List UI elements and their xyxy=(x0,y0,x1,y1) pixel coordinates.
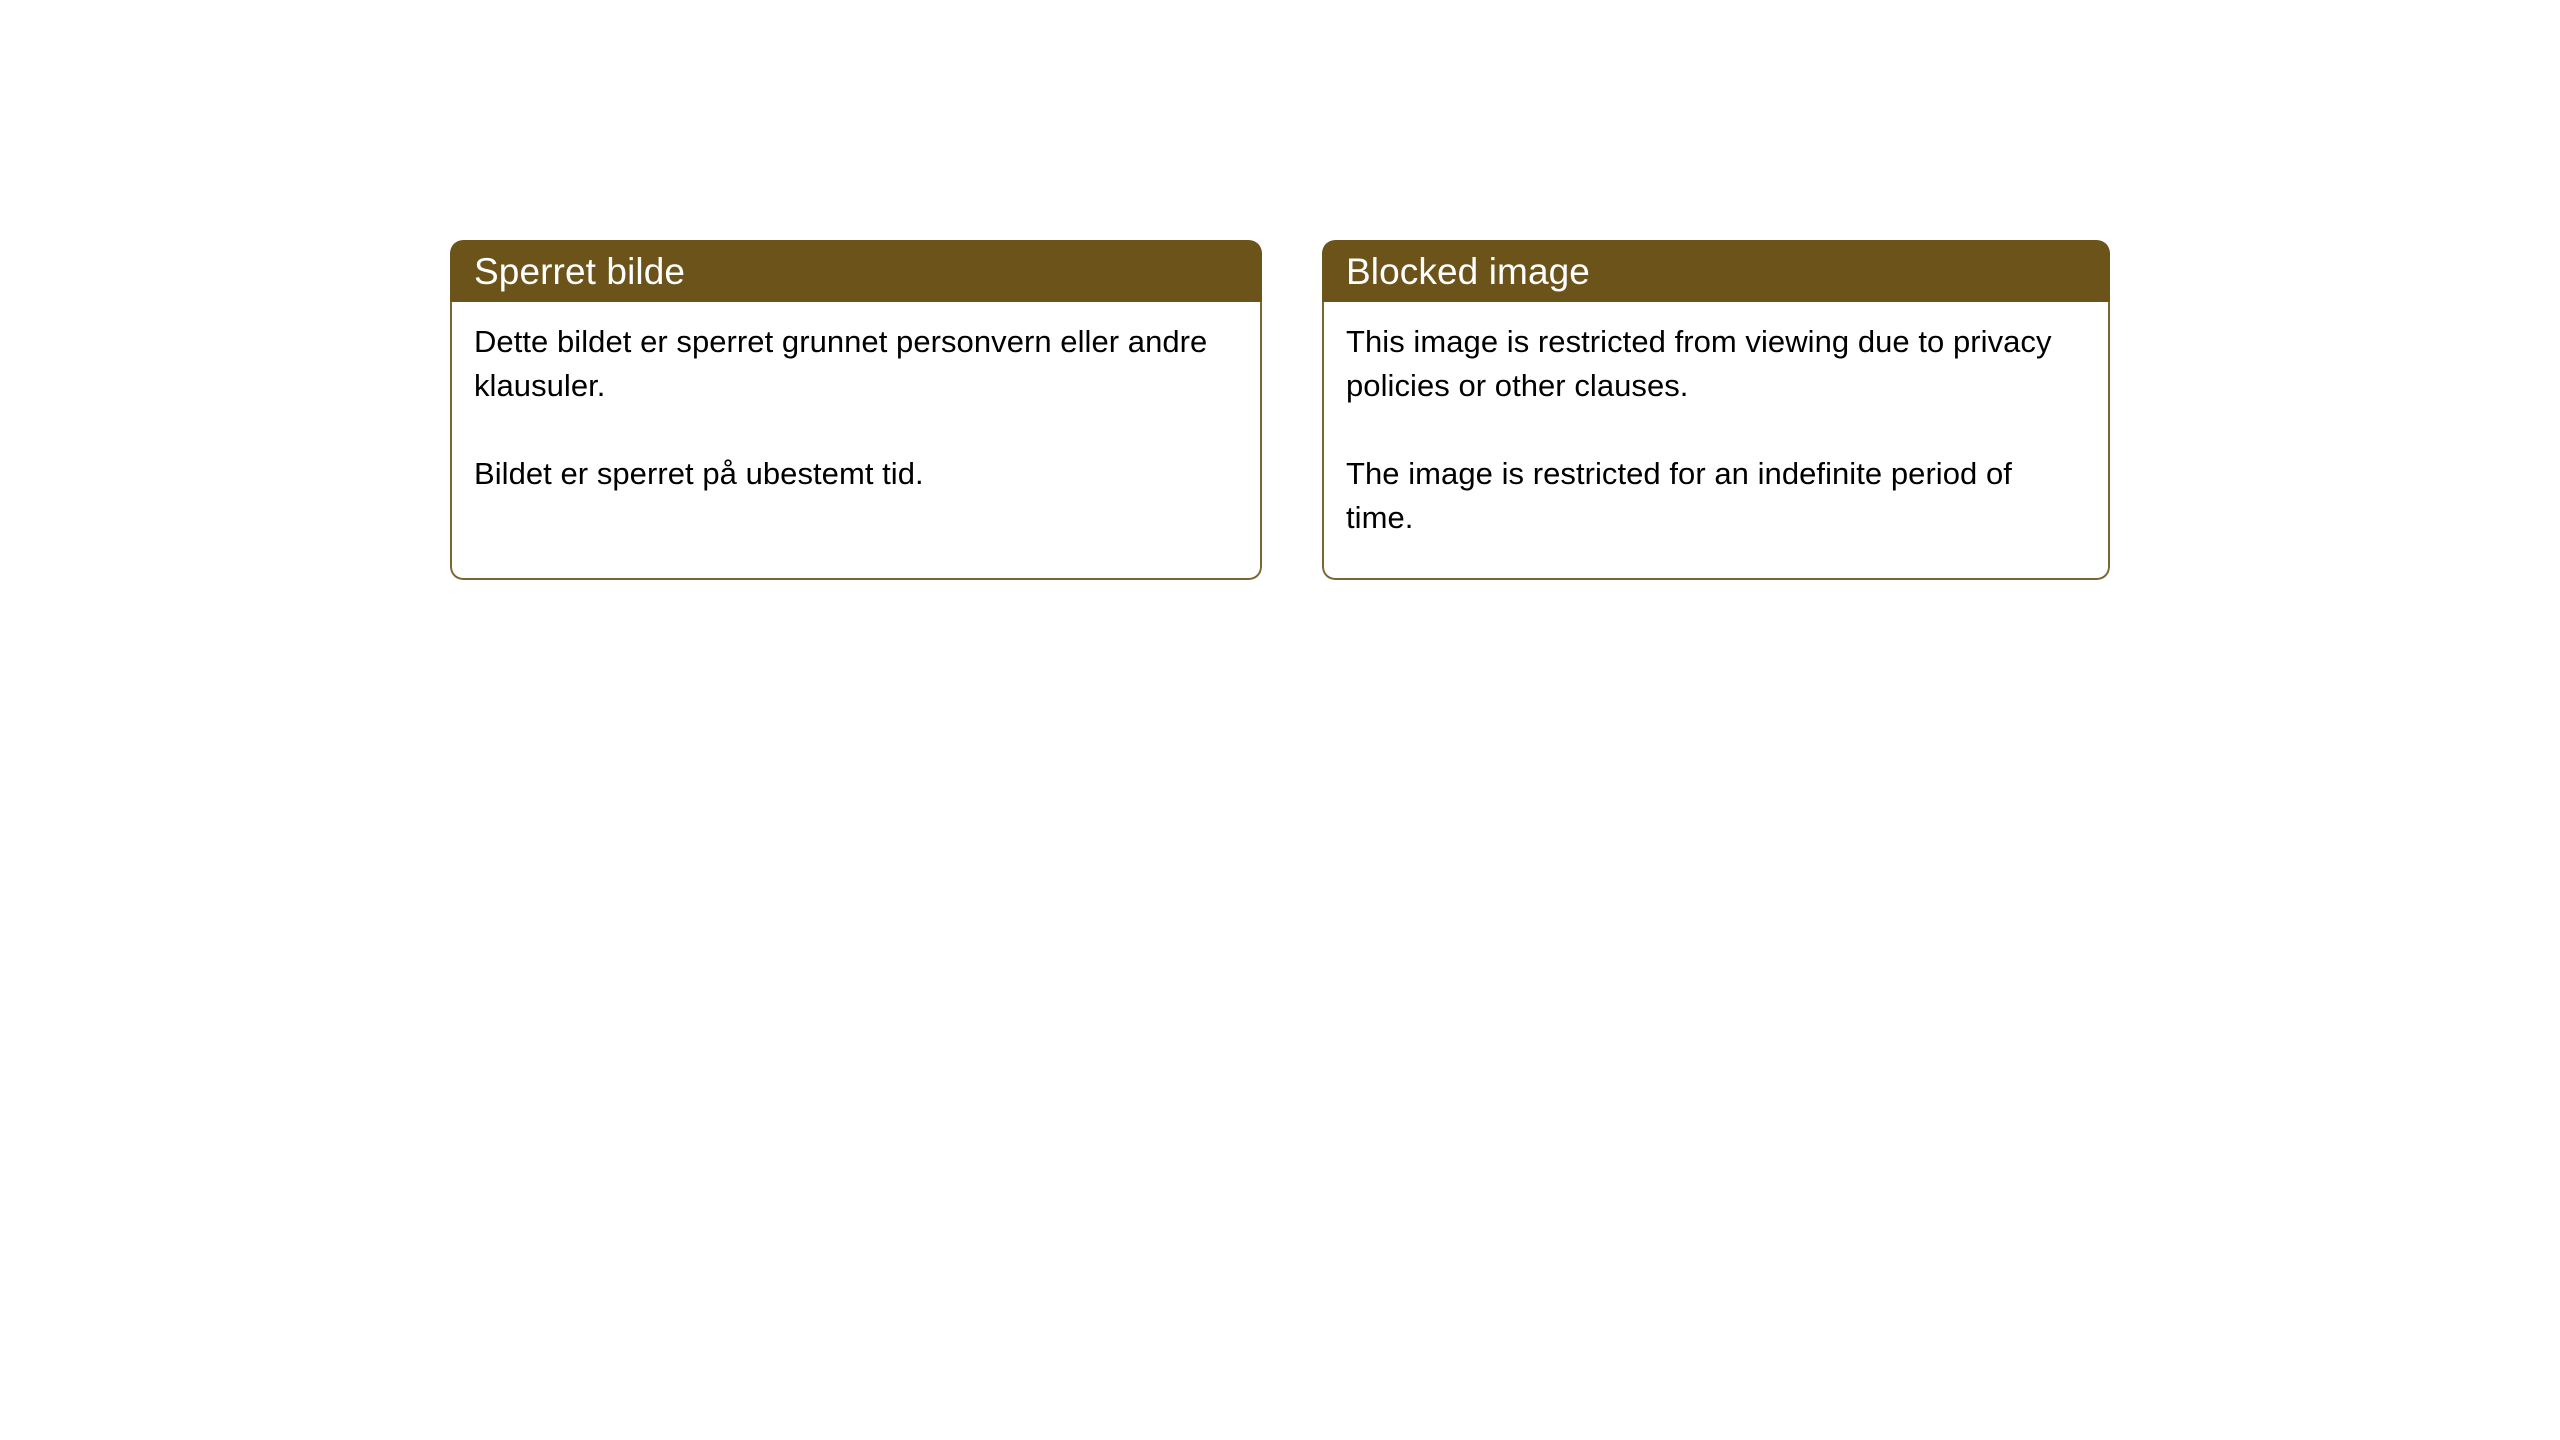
card-paragraph: Bildet er sperret på ubestemt tid. xyxy=(474,452,1238,496)
card-title-norwegian: Sperret bilde xyxy=(474,253,685,290)
paragraph-spacer xyxy=(474,408,1238,452)
card-header-norwegian: Sperret bilde xyxy=(450,240,1262,302)
card-paragraph: This image is restricted from viewing du… xyxy=(1346,320,2086,408)
card-body-norwegian: Dette bildet er sperret grunnet personve… xyxy=(450,302,1262,580)
card-body-english: This image is restricted from viewing du… xyxy=(1322,302,2110,580)
blocked-image-card-norwegian: Sperret bilde Dette bildet er sperret gr… xyxy=(450,240,1262,580)
blocked-image-card-english: Blocked image This image is restricted f… xyxy=(1322,240,2110,580)
blocked-image-notice-group: Sperret bilde Dette bildet er sperret gr… xyxy=(450,240,2110,580)
page-root: Sperret bilde Dette bildet er sperret gr… xyxy=(0,0,2560,1440)
paragraph-spacer xyxy=(1346,408,2086,452)
card-title-english: Blocked image xyxy=(1346,253,1590,290)
card-paragraph: The image is restricted for an indefinit… xyxy=(1346,452,2086,540)
card-paragraph: Dette bildet er sperret grunnet personve… xyxy=(474,320,1238,408)
card-header-english: Blocked image xyxy=(1322,240,2110,302)
